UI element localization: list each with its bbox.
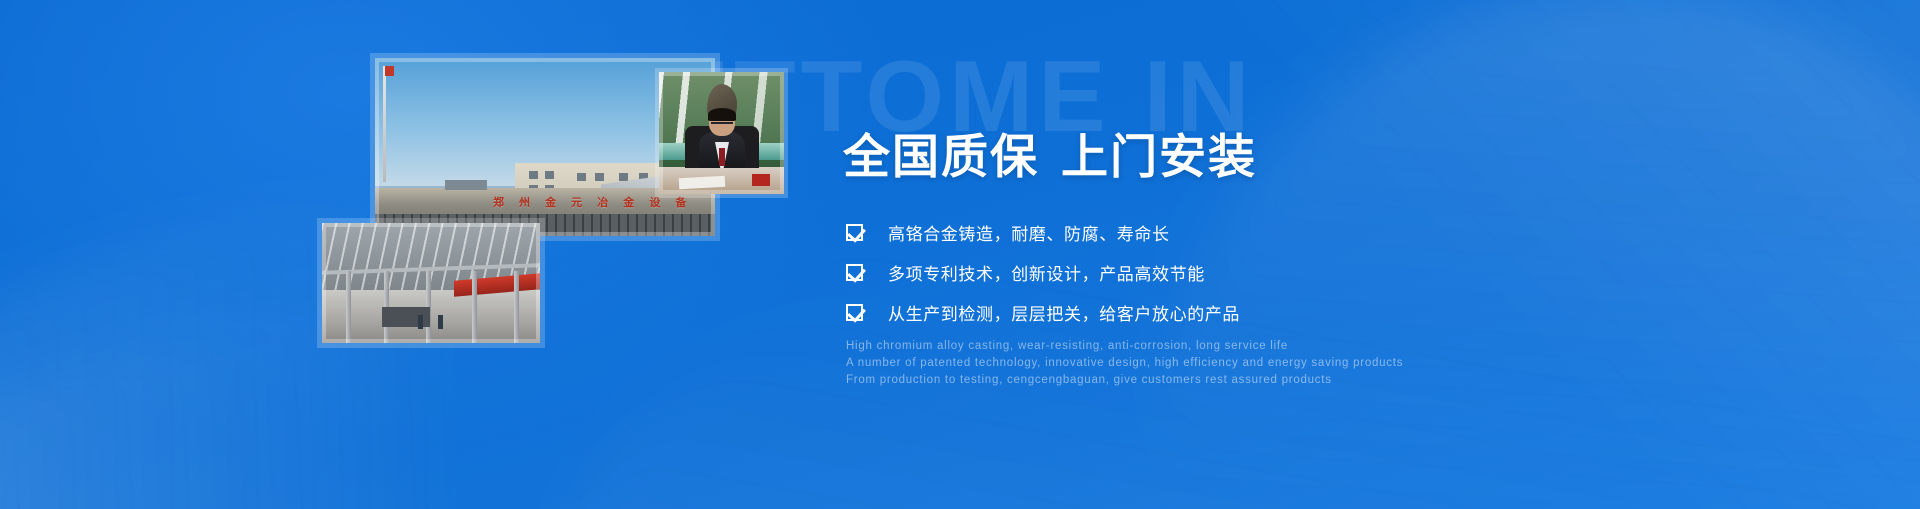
executive-office-portrait-photo bbox=[659, 72, 784, 194]
roof-unit-shape bbox=[445, 180, 487, 190]
english-line: High chromium alloy casting, wear-resist… bbox=[846, 338, 1746, 355]
photo-collage: 郑 州 金 元 冶 金 设 备 bbox=[0, 0, 820, 509]
english-line: A number of patented technology, innovat… bbox=[846, 355, 1746, 372]
checkbox-checked-icon bbox=[846, 264, 863, 281]
banner-headline: 全国质保上门安装 bbox=[843, 118, 1257, 187]
banner-content: 全国质保上门安装 高铬合金铸造，耐磨、防腐、寿命长 多项专利技术，创新设计，产品… bbox=[843, 0, 1843, 509]
feature-label: 多项专利技术，创新设计，产品高效节能 bbox=[888, 260, 1205, 285]
flag-shape bbox=[385, 66, 394, 76]
feature-label: 高铬合金铸造，耐磨、防腐、寿命长 bbox=[888, 220, 1170, 245]
flagpole-shape bbox=[383, 66, 386, 182]
checkbox-checked-icon bbox=[846, 224, 863, 241]
workshop-interior-photo bbox=[322, 223, 540, 343]
person-hair-shape bbox=[708, 108, 736, 121]
factory-sign-text: 郑 州 金 元 冶 金 设 备 bbox=[493, 194, 692, 210]
person-tie-shape bbox=[719, 148, 725, 166]
headline-part-2: 上门安装 bbox=[1061, 130, 1257, 183]
feature-item: 高铬合金铸造，耐磨、防腐、寿命长 bbox=[843, 212, 1603, 252]
feature-item: 从生产到检测，层层把关，给客户放心的产品 bbox=[843, 292, 1603, 332]
english-subtext: High chromium alloy casting, wear-resist… bbox=[846, 338, 1746, 389]
checkbox-checked-icon bbox=[846, 304, 863, 321]
feature-label: 从生产到检测，层层把关，给客户放心的产品 bbox=[888, 300, 1240, 325]
feature-item: 多项专利技术，创新设计，产品高效节能 bbox=[843, 252, 1603, 292]
person-glasses-shape bbox=[711, 122, 733, 128]
english-line: From production to testing, cengcengbagu… bbox=[846, 372, 1746, 389]
desk-red-object-shape bbox=[752, 174, 770, 186]
headline-part-1: 全国质保 bbox=[843, 130, 1039, 183]
workshop-floor-shape bbox=[322, 290, 540, 343]
feature-list: 高铬合金铸造，耐磨、防腐、寿命长 多项专利技术，创新设计，产品高效节能 从生产到… bbox=[843, 212, 1603, 332]
promotional-banner: AIUTTOME IN bbox=[0, 0, 1920, 509]
